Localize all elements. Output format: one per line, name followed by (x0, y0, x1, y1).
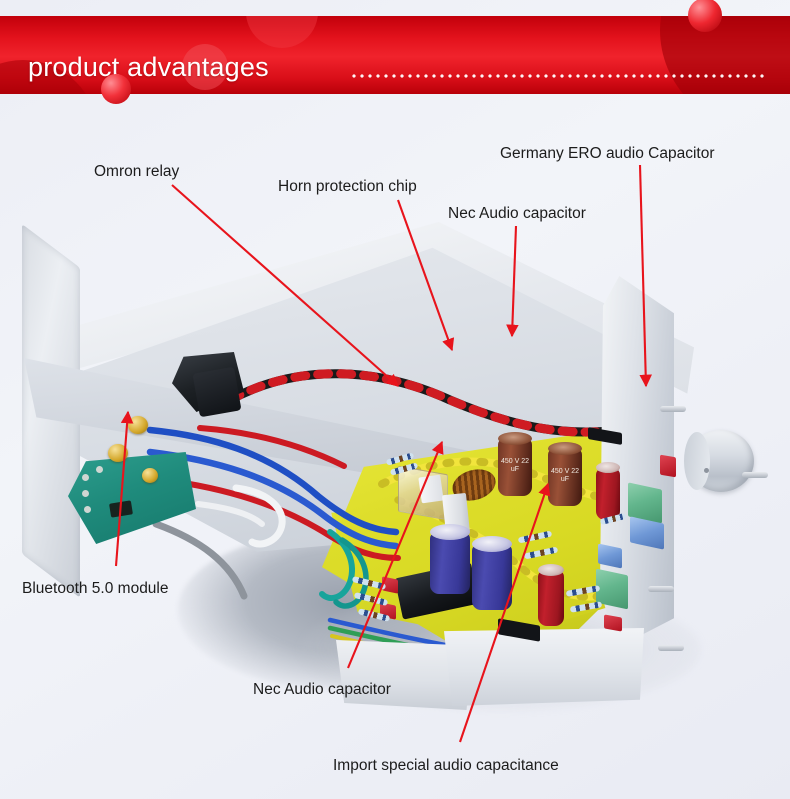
rca-jack-3 (142, 468, 158, 483)
callout-label-import-special-audio-capacitance: Import special audio capacitance (333, 757, 559, 775)
bluetooth-pad-4 (96, 466, 103, 473)
faceplate-pin-1 (660, 406, 686, 412)
nec-capacitor-2-label: 450 V 22 uF (548, 468, 582, 484)
chassis-foot-right (444, 628, 644, 706)
banner-circle-top-right (660, 16, 790, 94)
red-electrolytic-capacitor-top (596, 462, 620, 473)
faceplate-pin-3 (742, 472, 768, 478)
red-block-capacitor-3 (604, 614, 622, 631)
nec-capacitor-1-label: 450 V 22 uF (498, 458, 532, 474)
volume-knob-face (684, 432, 710, 490)
import-audio-capacitor-1-top (430, 524, 470, 540)
faceplate-pin-2 (648, 586, 674, 592)
product-advantages-page: product advantages (0, 0, 790, 799)
import-audio-capacitor-2 (472, 544, 512, 610)
rca-jack-1 (128, 416, 148, 434)
product-photo: 450 V 22 uF 450 V 22 uF (0, 100, 790, 799)
banner-circle-top-mid (246, 16, 318, 48)
nec-audio-capacitor-2-top (548, 442, 582, 455)
callout-label-germany-ero-audio-capacitor: Germany ERO audio Capacitor (500, 145, 715, 163)
callout-label-nec-audio-capacitor-bottom: Nec Audio capacitor (253, 681, 391, 699)
callout-label-horn-protection-chip: Horn protection chip (278, 178, 417, 196)
horn-protection-chip-component (418, 475, 443, 504)
volume-knob-indicator (704, 468, 709, 473)
bluetooth-pad-3 (84, 506, 91, 513)
rca-jack-2 (108, 444, 128, 462)
callout-label-bluetooth-module: Bluetooth 5.0 module (22, 580, 169, 598)
nec-audio-capacitor-1-top (498, 432, 532, 445)
callout-label-nec-audio-capacitor-top: Nec Audio capacitor (448, 205, 586, 223)
import-audio-capacitor-1 (430, 532, 470, 594)
callout-label-omron-relay: Omron relay (94, 163, 179, 181)
bluetooth-pad-1 (82, 474, 89, 481)
red-electrolytic-capacitor (596, 468, 620, 520)
red-block-capacitor-4 (660, 455, 676, 478)
amplifier-unit: 450 V 22 uF 450 V 22 uF (0, 100, 790, 799)
bluetooth-module-board (68, 452, 196, 544)
faceplate-pin-4 (658, 645, 684, 651)
nec-audio-capacitor-3 (538, 570, 564, 626)
import-audio-capacitor-2-top (472, 536, 512, 552)
bluetooth-pad-2 (82, 490, 89, 497)
power-socket-inner (192, 367, 241, 418)
banner-dotted-rule (350, 70, 766, 78)
nec-audio-capacitor-3-top (538, 564, 564, 576)
page-title: product advantages (28, 52, 269, 83)
